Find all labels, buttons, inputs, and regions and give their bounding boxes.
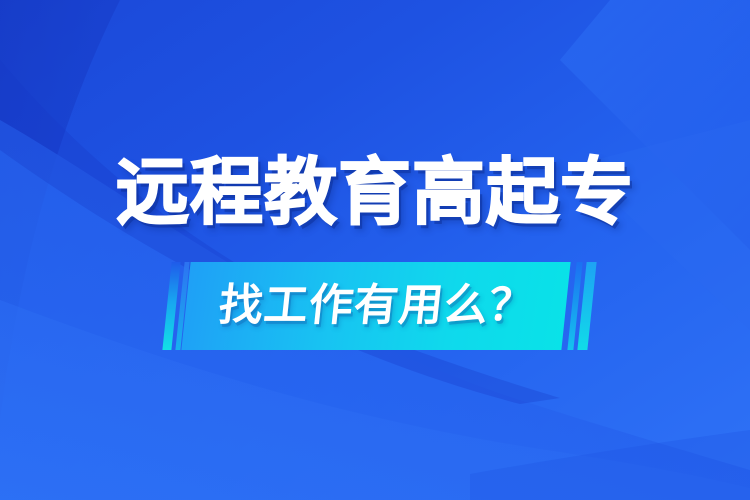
subtitle-banner-group: 找工作有用么？ xyxy=(160,258,590,354)
background-shapes-svg xyxy=(0,0,750,500)
main-title-text: 远程教育高起专 xyxy=(116,150,634,236)
main-title: 远程教育高起专 xyxy=(0,150,750,236)
subtitle-text: 找工作有用么？ xyxy=(216,279,537,333)
background-decoration-layer xyxy=(0,0,750,500)
subtitle-text-holder: 找工作有用么？ xyxy=(186,262,566,350)
promo-poster: 远程教育高起专 找工作有用么？ xyxy=(0,0,750,500)
